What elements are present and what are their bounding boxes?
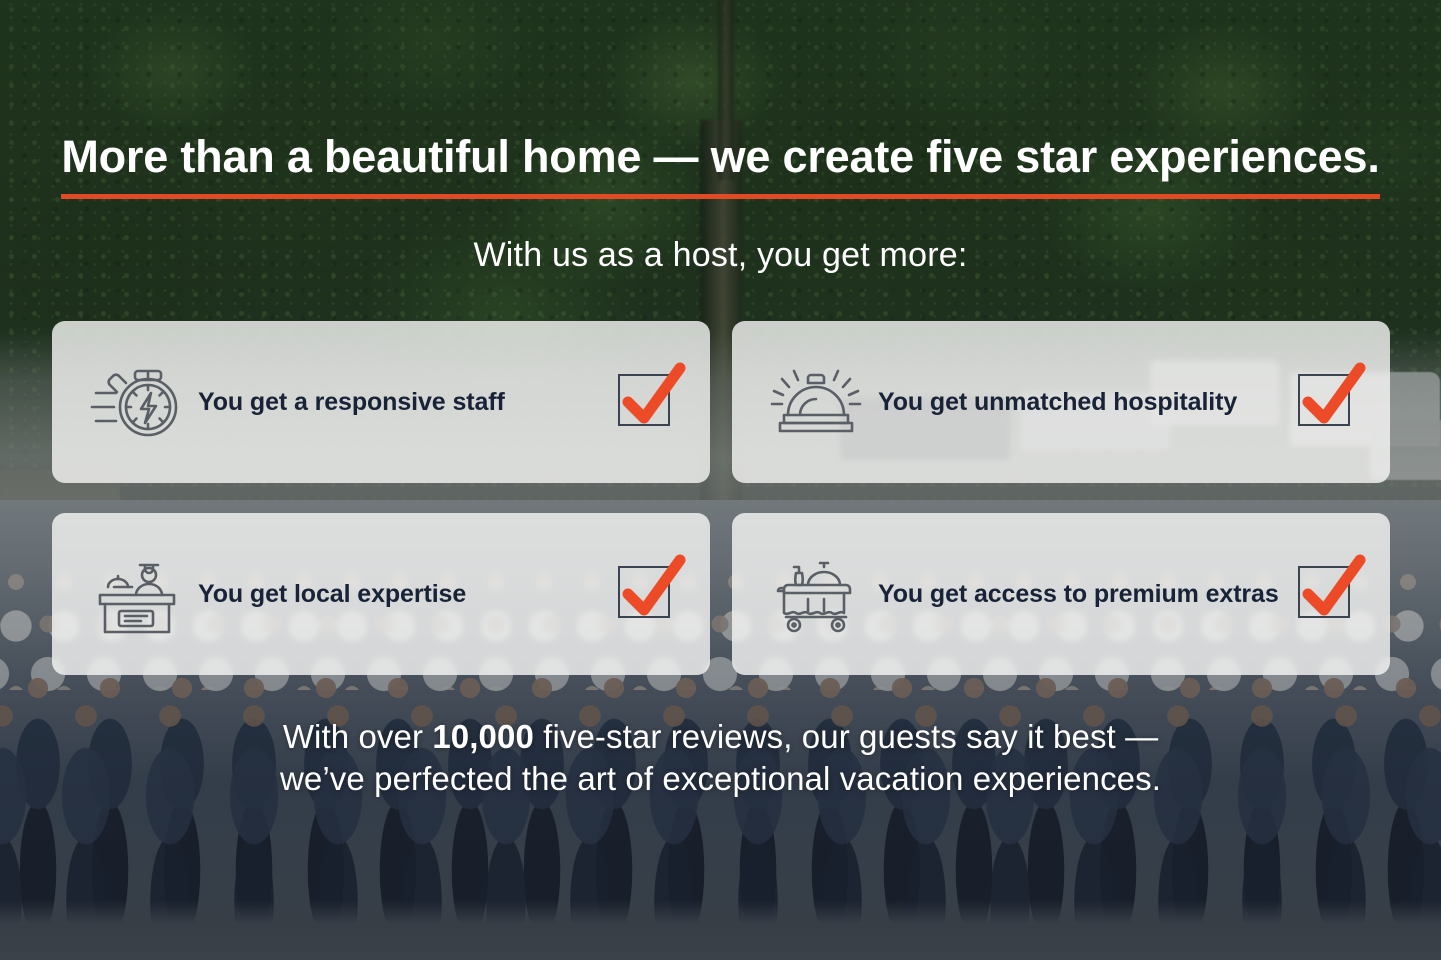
footer-review-count: 10,000	[432, 718, 534, 755]
benefit-checkbox[interactable]	[1298, 566, 1354, 622]
checkmark-icon	[616, 554, 688, 626]
benefit-card-label: You get a responsive staff	[184, 388, 618, 417]
benefit-card-label: You get access to premium extras	[864, 580, 1298, 609]
footer-statement-line-2: we’ve perfected the art of exceptional v…	[0, 758, 1441, 800]
benefit-card-unmatched-hospitality[interactable]: You get unmatched hospitality	[732, 321, 1390, 483]
stopwatch-lightning-icon	[88, 356, 184, 448]
room-service-cart-icon	[768, 548, 864, 640]
benefit-card-label: You get local expertise	[184, 580, 618, 609]
benefit-card-local-expertise[interactable]: You get local expertise	[52, 513, 710, 675]
footer-prefix: With over	[283, 718, 433, 755]
hero-content: More than a beautiful home — we create f…	[0, 0, 1441, 960]
footer-suffix: five-star reviews, our guests say it bes…	[534, 718, 1158, 755]
benefit-checkbox[interactable]	[618, 566, 674, 622]
checkmark-icon	[1296, 554, 1368, 626]
benefit-card-label: You get unmatched hospitality	[864, 388, 1298, 417]
hero-section: More than a beautiful home — we create f…	[0, 0, 1441, 960]
page-title-wrapper: More than a beautiful home — we create f…	[0, 132, 1441, 199]
footer-statement-line-1: With over 10,000 five-star reviews, our …	[0, 716, 1441, 758]
benefit-card-premium-extras[interactable]: You get access to premium extras	[732, 513, 1390, 675]
checkmark-icon	[616, 362, 688, 434]
benefit-card-responsive-staff[interactable]: You get a responsive staff	[52, 321, 710, 483]
footer-statement: With over 10,000 five-star reviews, our …	[0, 716, 1441, 800]
checkmark-icon	[1296, 362, 1368, 434]
benefit-checkbox[interactable]	[618, 374, 674, 430]
service-bell-icon	[768, 356, 864, 448]
page-title: More than a beautiful home — we create f…	[61, 132, 1379, 199]
benefit-card-grid: You get a responsive staff	[52, 321, 1390, 675]
benefit-checkbox[interactable]	[1298, 374, 1354, 430]
reception-desk-icon	[88, 548, 184, 640]
page-subtitle: With us as a host, you get more:	[0, 236, 1441, 275]
